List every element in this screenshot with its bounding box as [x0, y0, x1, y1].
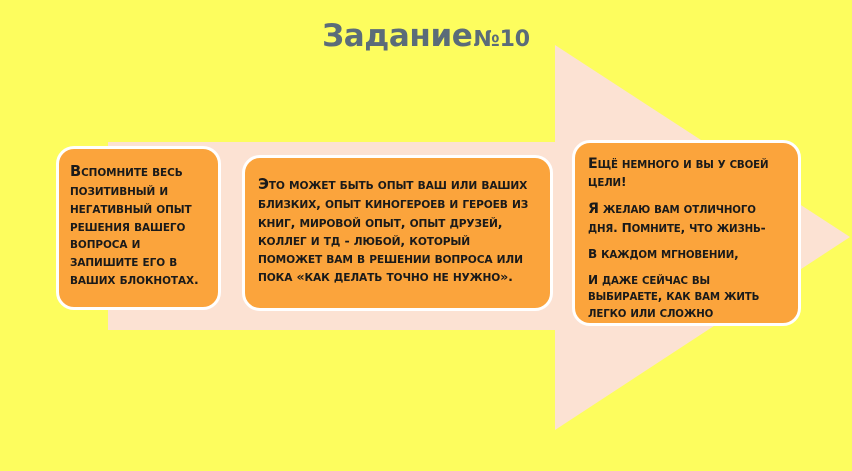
step-box-1: ВСПОМНИТЕ ВЕСЬ ПОЗИТИВНЫЙ И НЕГАТИВНЫЙ О…	[56, 146, 221, 310]
page-title: Задание№10	[0, 18, 852, 54]
slide-canvas: Задание№10 ВСПОМНИТЕ ВЕСЬ ПОЗИТИВНЫЙ И Н…	[0, 0, 852, 471]
step-box-2: ЭТО МОЖЕТ БЫТЬ ОПЫТ ВАШ ИЛИ ВАШИХ БЛИЗКИ…	[242, 155, 553, 311]
step-box-2-text: ЭТО МОЖЕТ БЫТЬ ОПЫТ ВАШ ИЛИ ВАШИХ БЛИЗКИ…	[258, 174, 538, 286]
title-number-text: №10	[473, 27, 529, 52]
step-box-1-text: ВСПОМНИТЕ ВЕСЬ ПОЗИТИВНЫЙ И НЕГАТИВНЫЙ О…	[70, 162, 207, 289]
step-box-3: ЕЩЁ НЕМНОГО И ВЫ У СВОЕЙ ЦЕЛИ! Я ЖЕЛАЮ В…	[572, 140, 801, 326]
step-box-3-paragraph-1: ЕЩЁ НЕМНОГО И ВЫ У СВОЕЙ ЦЕЛИ!	[588, 155, 786, 191]
step-box-3-paragraph-2: Я ЖЕЛАЮ ВАМ ОТЛИЧНОГО ДНЯ. ПОМНИТЕ, ЧТО …	[588, 200, 786, 236]
step-box-3-paragraph-4: И ДАЖЕ СЕЙЧАС ВЫ ВЫБИРАЕТЕ, КАК ВАМ ЖИТЬ…	[588, 272, 786, 323]
step-box-3-paragraph-3: В КАЖДОМ МГНОВЕНИИ,	[588, 246, 786, 263]
title-main-text: Задание	[322, 18, 472, 54]
